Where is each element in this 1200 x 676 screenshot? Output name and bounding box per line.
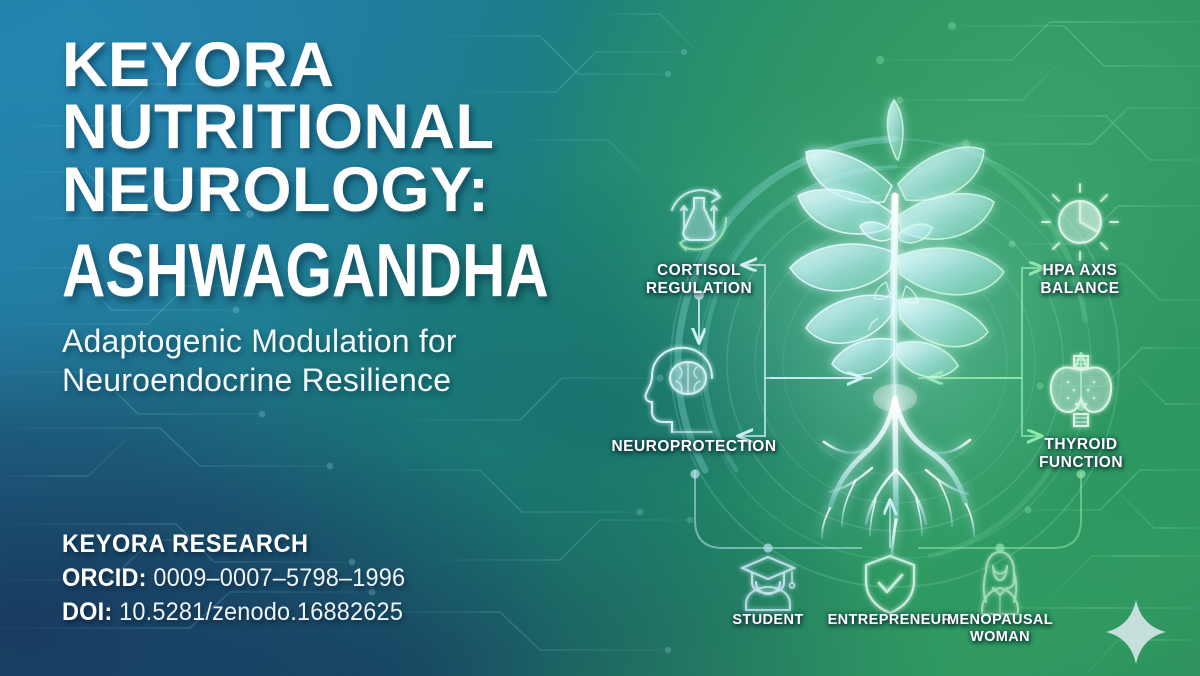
orcid-value: 0009–0007–5798–1996	[153, 564, 405, 592]
flask-cycle-icon	[672, 190, 726, 250]
organization-name: KEYORA RESEARCH	[62, 530, 405, 559]
page-subtitle: Adaptogenic Modulation for Neuroendocrin…	[62, 322, 662, 400]
page-title-line1: KEYORA NUTRITIONAL	[62, 34, 662, 159]
sparkle-icon	[1106, 600, 1166, 664]
poster-canvas: KEYORA NUTRITIONAL NEUROLOGY: ASHWAGANDH…	[0, 0, 1200, 676]
credits-block: KEYORA RESEARCH ORCID: 0009–0007–5798–19…	[62, 530, 427, 627]
doi-value: 10.5281/zenodo.16882625	[119, 598, 403, 626]
headline-keyword: ASHWAGANDHA	[62, 235, 542, 306]
orcid-label: ORCID:	[62, 564, 147, 592]
doi-line: DOI: 10.5281/zenodo.16882625	[62, 598, 405, 627]
page-title-line2: NEUROLOGY:	[62, 159, 662, 221]
doi-label: DOI:	[62, 598, 112, 626]
graduate-person-icon	[742, 557, 795, 610]
orcid-line: ORCID: 0009–0007–5798–1996	[62, 564, 405, 593]
headline-block: KEYORA NUTRITIONAL NEUROLOGY: ASHWAGANDH…	[62, 34, 662, 400]
